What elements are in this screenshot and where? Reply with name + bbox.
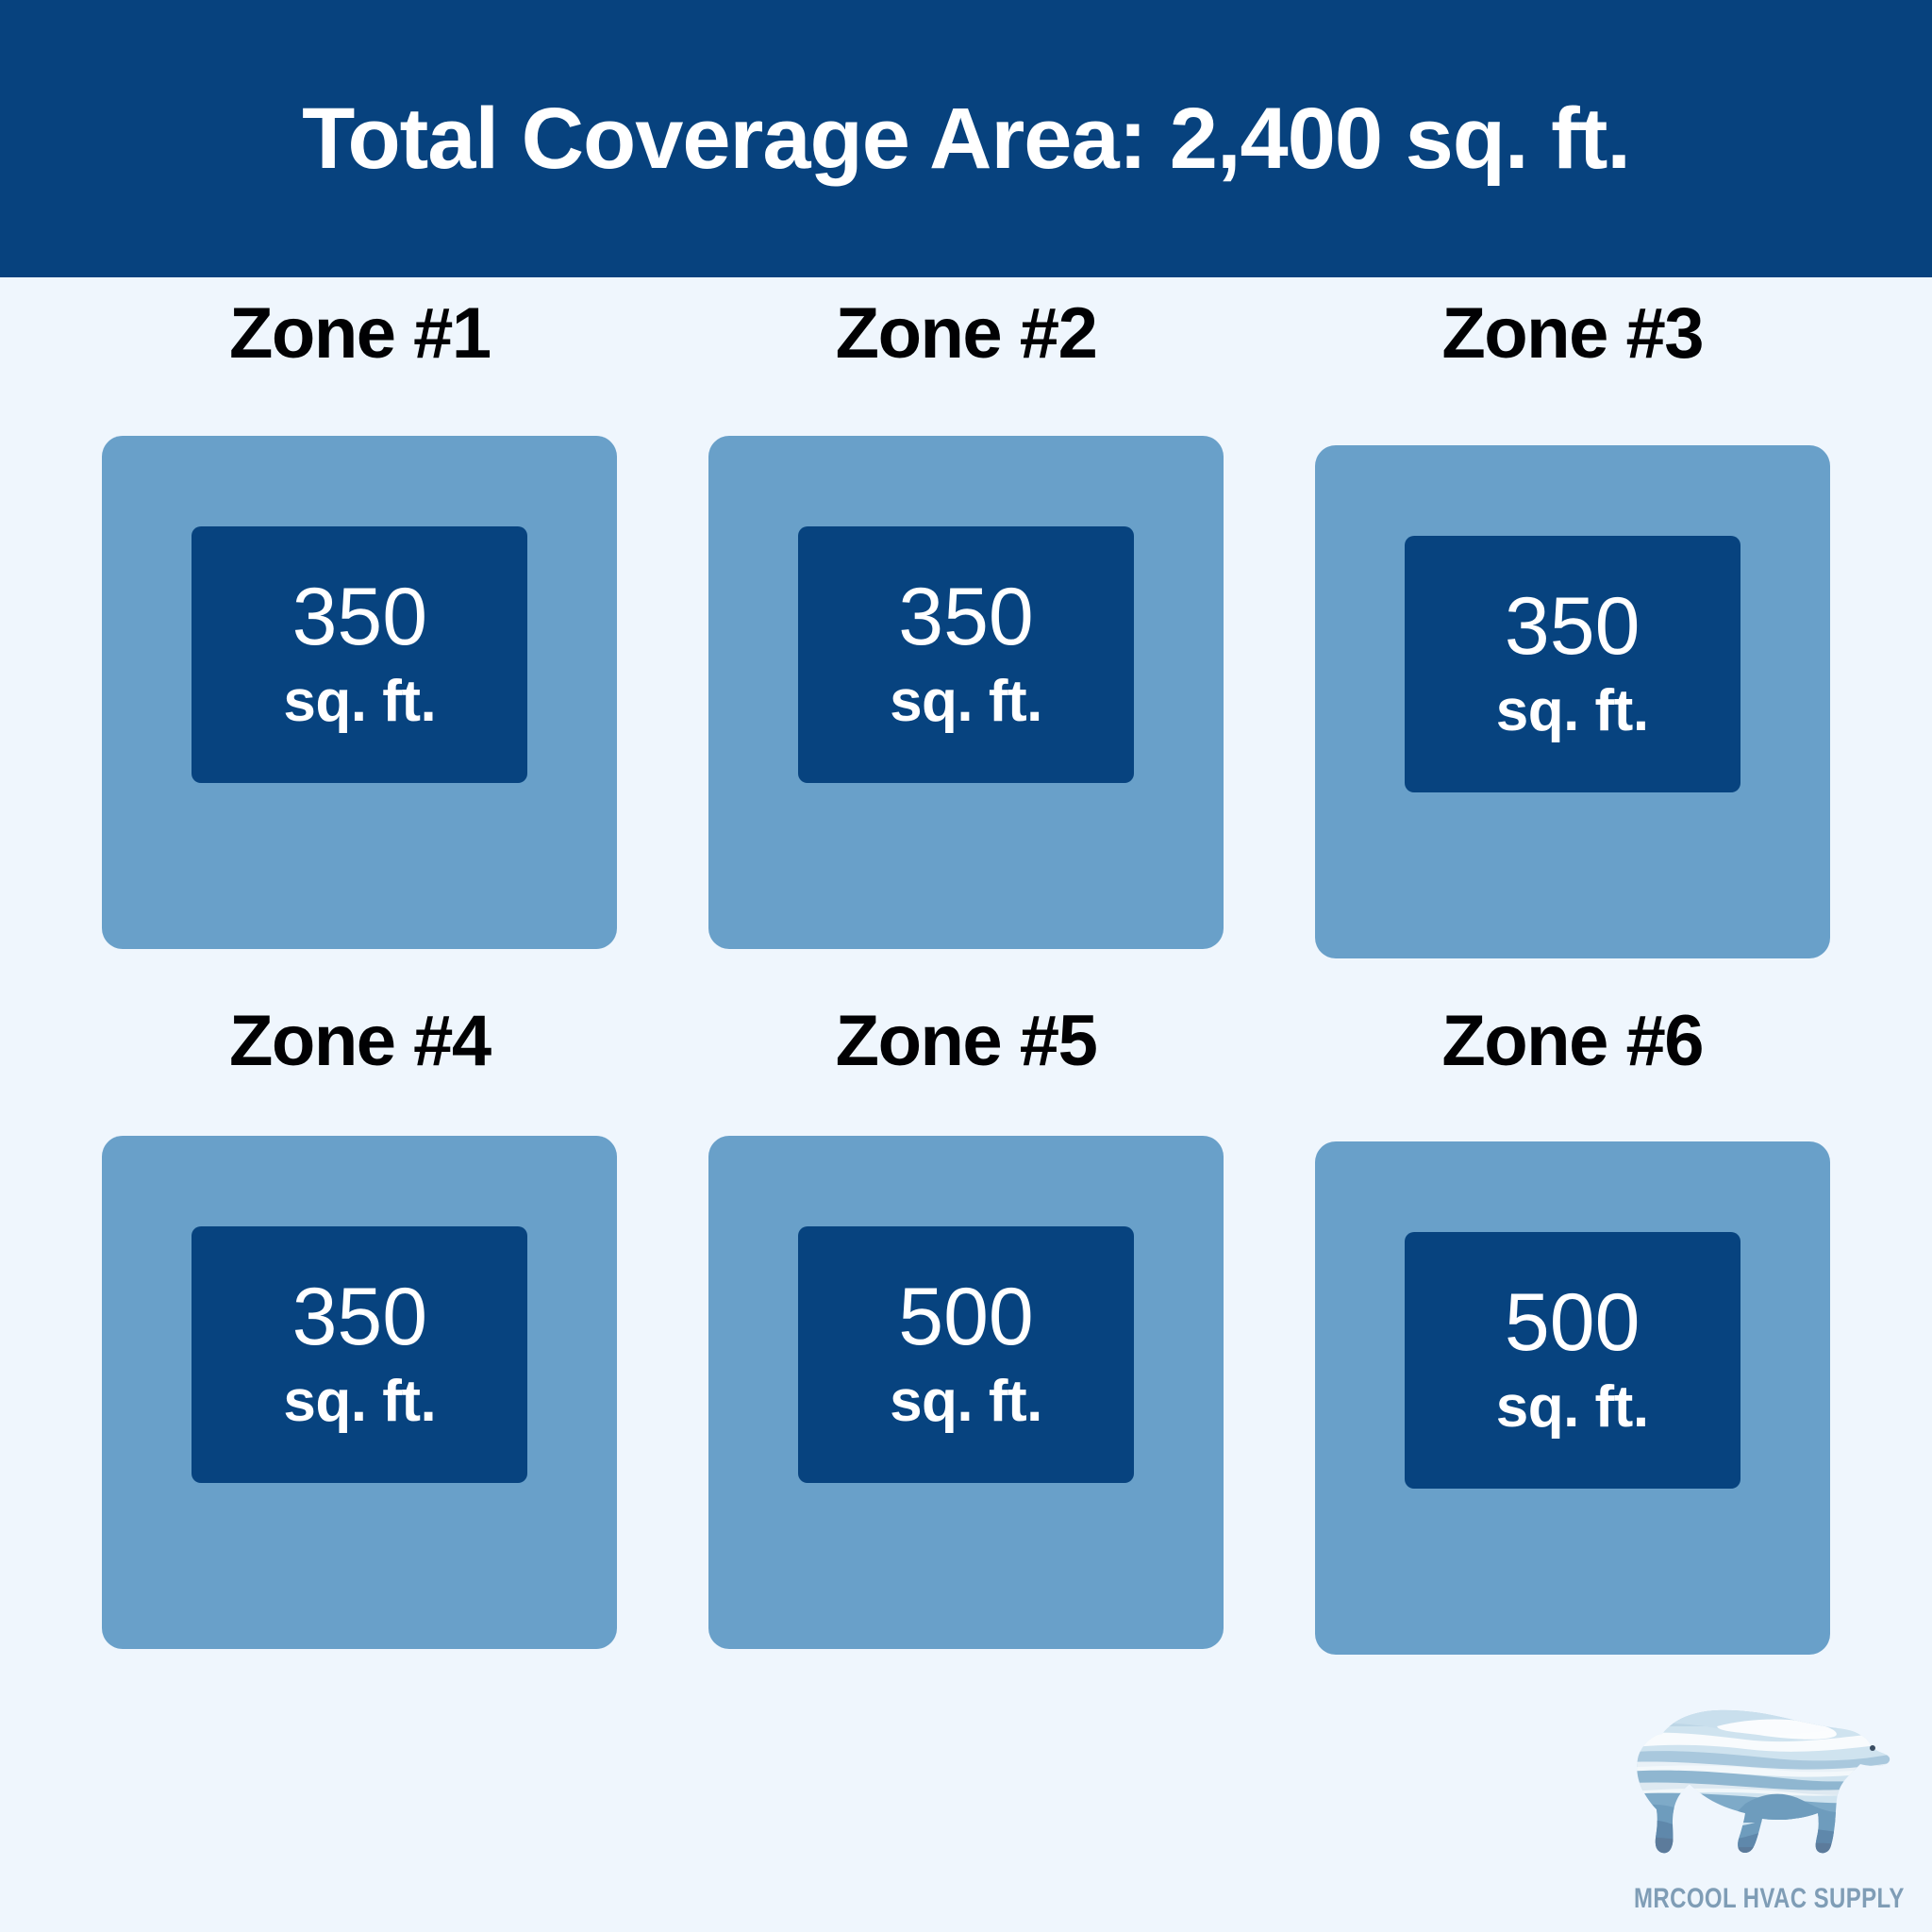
zone-label-1: Zone #1 (229, 298, 491, 370)
zone-outer-box-1: 350 sq. ft. (102, 436, 617, 949)
zone-label-4: Zone #4 (229, 1006, 491, 1077)
zone-unit-3: sq. ft. (1496, 685, 1649, 738)
zone-cell-5: Zone #5 500 sq. ft. (663, 985, 1270, 1692)
zone-cell-3: Zone #3 350 sq. ft. (1269, 277, 1875, 985)
zone-inner-box-4: 350 sq. ft. (192, 1226, 527, 1483)
zone-value-6: 500 (1505, 1287, 1641, 1359)
zone-unit-1: sq. ft. (283, 675, 436, 728)
zone-label-5: Zone #5 (836, 1006, 1097, 1077)
zone-unit-6: sq. ft. (1496, 1381, 1649, 1434)
infographic-page: Total Coverage Area: 2,400 sq. ft. Zone … (0, 0, 1932, 1932)
zone-inner-box-5: 500 sq. ft. (798, 1226, 1134, 1483)
zone-grid: Zone #1 350 sq. ft. Zone #2 350 sq. ft. … (0, 277, 1932, 1692)
zone-cell-4: Zone #4 350 sq. ft. (57, 985, 663, 1692)
zone-unit-4: sq. ft. (283, 1375, 436, 1428)
zone-outer-box-3: 350 sq. ft. (1315, 445, 1830, 958)
header-band: Total Coverage Area: 2,400 sq. ft. (0, 0, 1932, 277)
zone-unit-2: sq. ft. (890, 675, 1042, 728)
polar-bear-logo-icon (1604, 1706, 1906, 1875)
zone-outer-box-4: 350 sq. ft. (102, 1136, 617, 1649)
zone-label-3: Zone #3 (1441, 298, 1703, 370)
zone-inner-box-6: 500 sq. ft. (1405, 1232, 1740, 1489)
zone-outer-box-2: 350 sq. ft. (708, 436, 1224, 949)
zone-inner-box-2: 350 sq. ft. (798, 526, 1134, 783)
zone-value-2: 350 (898, 581, 1034, 654)
zone-outer-box-5: 500 sq. ft. (708, 1136, 1224, 1649)
zone-cell-2: Zone #2 350 sq. ft. (663, 277, 1270, 985)
zone-cell-1: Zone #1 350 sq. ft. (57, 277, 663, 985)
zone-value-3: 350 (1505, 591, 1641, 663)
zone-inner-box-1: 350 sq. ft. (192, 526, 527, 783)
zone-inner-box-3: 350 sq. ft. (1405, 536, 1740, 792)
zone-cell-6: Zone #6 500 sq. ft. (1269, 985, 1875, 1692)
zone-outer-box-6: 500 sq. ft. (1315, 1141, 1830, 1655)
brand-logo: MRCOOL HVAC SUPPLY (1604, 1706, 1906, 1919)
zone-label-6: Zone #6 (1441, 1006, 1703, 1077)
zone-value-5: 500 (898, 1281, 1034, 1354)
zone-label-2: Zone #2 (836, 298, 1097, 370)
zone-value-1: 350 (292, 581, 428, 654)
zone-value-4: 350 (292, 1281, 428, 1354)
brand-name: MRCOOL HVAC SUPPLY (1634, 1883, 1875, 1915)
page-title: Total Coverage Area: 2,400 sq. ft. (302, 95, 1630, 182)
zone-unit-5: sq. ft. (890, 1375, 1042, 1428)
